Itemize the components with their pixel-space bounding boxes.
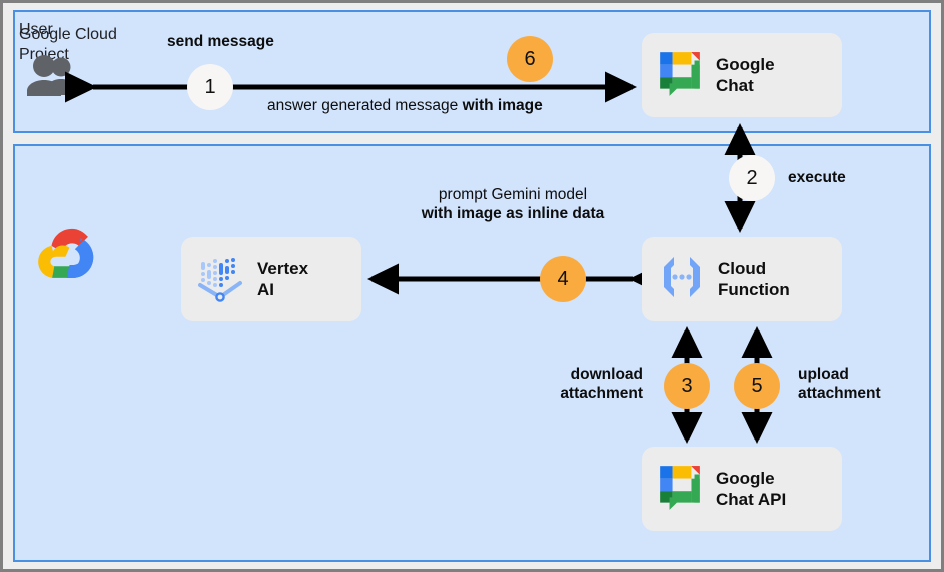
node-vertex-ai-label: Vertex AI <box>257 258 308 300</box>
step-badge-5[interactable]: 5 <box>734 363 780 409</box>
node-cloud-function-label: Cloud Function <box>718 258 790 300</box>
google-chat-icon <box>656 462 706 517</box>
edge-label-answer-bold: with image <box>463 97 543 114</box>
google-chat-icon <box>656 48 706 103</box>
edge-label-download-attachment: download attachment <box>521 365 643 403</box>
diagram-canvas: User Google Cloud Project <box>0 0 944 572</box>
edge-label-execute: execute <box>788 168 846 187</box>
edge-label-answer-regular: answer generated message <box>267 97 463 114</box>
edge-label-prompt-bold: with image as inline data <box>422 205 605 222</box>
edge-label-prompt-gemini: prompt Gemini modelwith image as inline … <box>407 185 619 223</box>
cloud-function-icon <box>656 251 708 308</box>
edge-label-answer-generated-message: answer generated message with image <box>267 96 543 115</box>
step-badge-6[interactable]: 6 <box>507 36 553 82</box>
edge-label-upload-attachment: upload attachment <box>798 365 928 403</box>
vertex-ai-icon <box>195 251 247 308</box>
edge-label-prompt-regular: prompt Gemini model <box>439 186 587 203</box>
node-google-chat[interactable]: Google Chat <box>642 33 842 117</box>
node-vertex-ai[interactable]: Vertex AI <box>181 237 361 321</box>
edge-label-send-message: send message <box>167 32 274 51</box>
step-badge-1[interactable]: 1 <box>187 64 233 110</box>
node-google-chat-label: Google Chat <box>716 54 775 96</box>
step-badge-3[interactable]: 3 <box>664 363 710 409</box>
node-google-chat-api[interactable]: Google Chat API <box>642 447 842 531</box>
node-google-chat-api-label: Google Chat API <box>716 468 786 510</box>
step-badge-2[interactable]: 2 <box>729 155 775 201</box>
node-cloud-function[interactable]: Cloud Function <box>642 237 842 321</box>
step-badge-4[interactable]: 4 <box>540 256 586 302</box>
